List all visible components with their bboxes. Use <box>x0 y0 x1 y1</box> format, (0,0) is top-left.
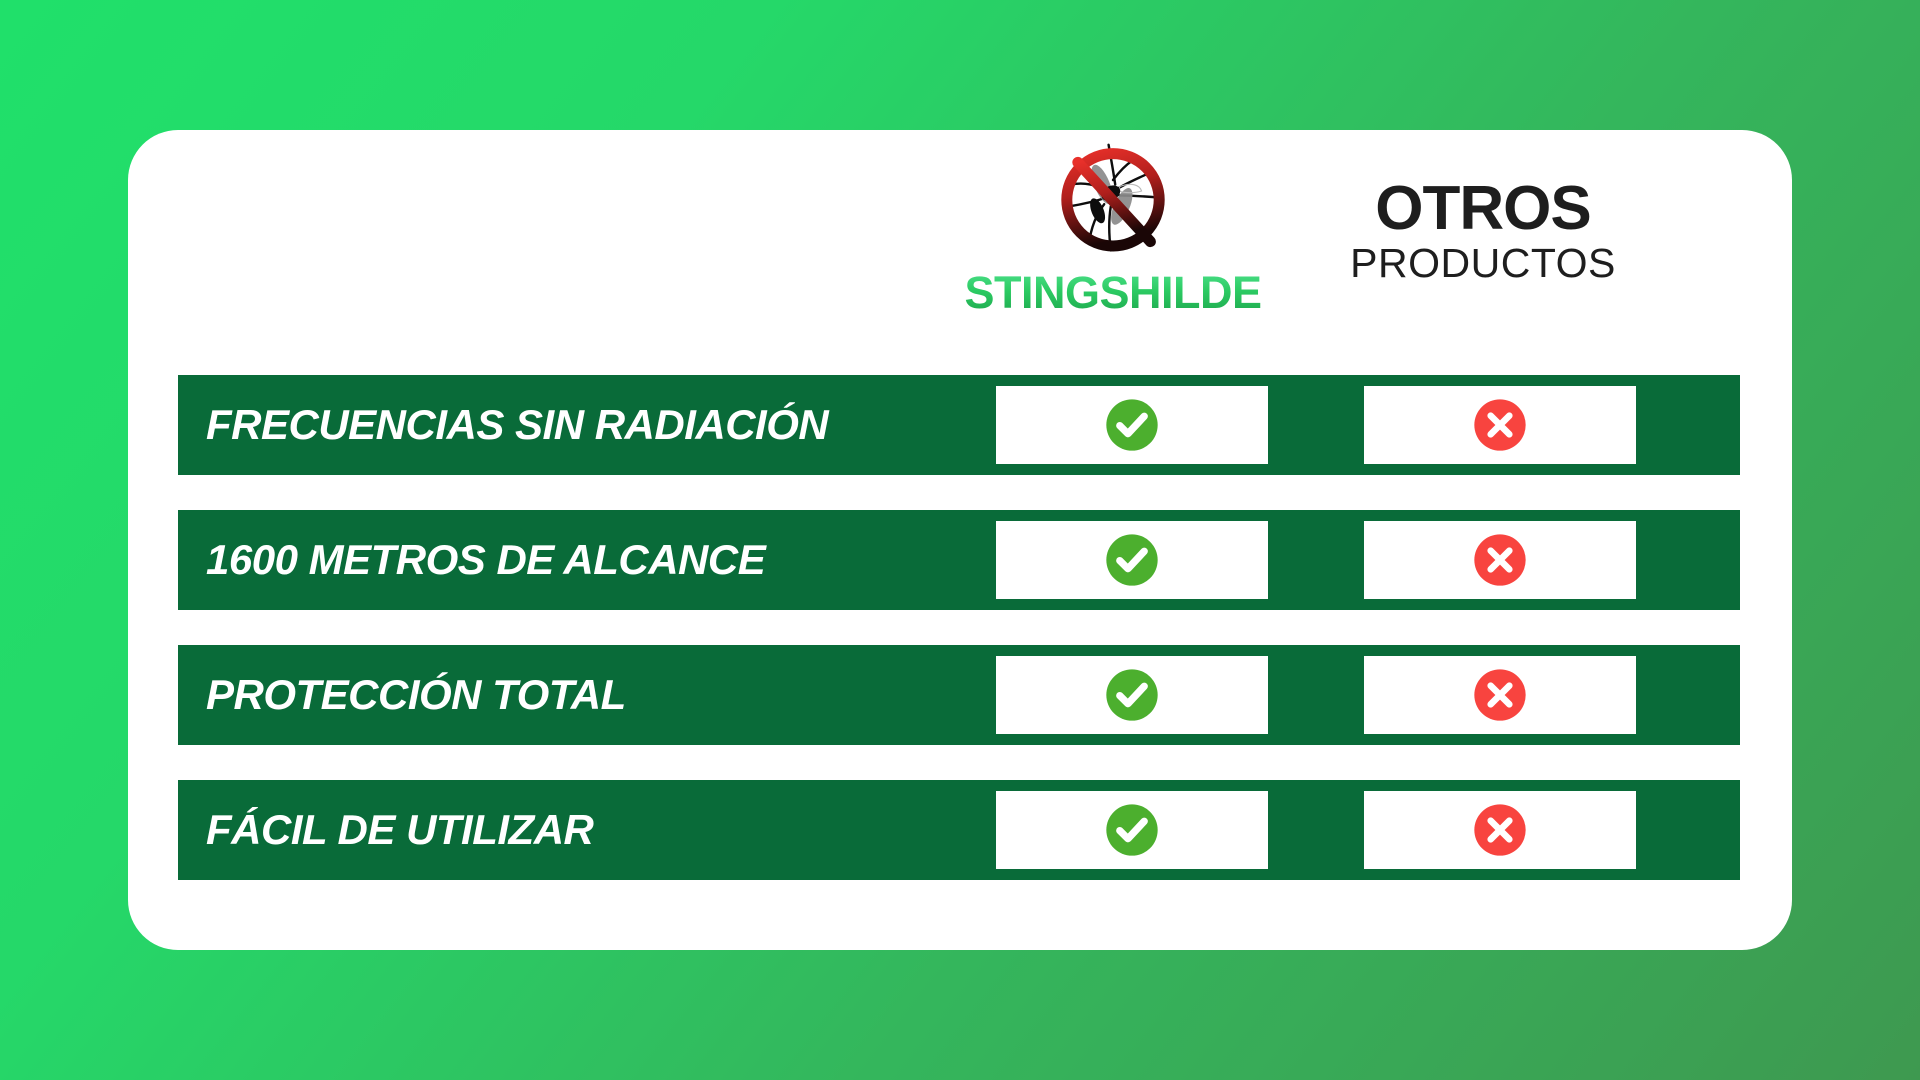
comparison-card: STINGSHILDE OTROS PRODUCTOS FRECUENCIAS … <box>128 130 1792 950</box>
competitor-cell <box>1364 521 1636 599</box>
feature-label: FÁCIL DE UTILIZAR <box>206 780 593 880</box>
stingshilde-cell <box>996 386 1268 464</box>
cross-icon <box>1472 532 1528 588</box>
check-icon <box>1104 802 1160 858</box>
check-icon <box>1104 667 1160 723</box>
stingshilde-cell <box>996 791 1268 869</box>
mosquito-prohibited-icon <box>1047 136 1179 268</box>
feature-label: 1600 METROS DE ALCANCE <box>206 510 765 610</box>
check-icon <box>1104 532 1160 588</box>
table-row: PROTECCIÓN TOTAL <box>178 645 1740 745</box>
table-row: FÁCIL DE UTILIZAR <box>178 780 1740 880</box>
comparison-rows: FRECUENCIAS SIN RADIACIÓN 1600 METROS <box>178 375 1740 880</box>
feature-label: PROTECCIÓN TOTAL <box>206 645 626 745</box>
comparison-graphic: STINGSHILDE OTROS PRODUCTOS FRECUENCIAS … <box>0 0 1920 1080</box>
brand-column-header: STINGSHILDE <box>918 136 1308 315</box>
cross-icon <box>1472 802 1528 858</box>
comparison-header: STINGSHILDE OTROS PRODUCTOS <box>128 130 1792 375</box>
table-row: FRECUENCIAS SIN RADIACIÓN <box>178 375 1740 475</box>
cross-icon <box>1472 397 1528 453</box>
stingshilde-cell <box>996 656 1268 734</box>
competitor-cell <box>1364 386 1636 464</box>
competitor-cell <box>1364 791 1636 869</box>
cross-icon <box>1472 667 1528 723</box>
competitor-subtitle: PRODUCTOS <box>1350 242 1616 285</box>
stingshilde-cell <box>996 521 1268 599</box>
competitor-column-header: OTROS PRODUCTOS <box>1288 178 1678 285</box>
brand-name: STINGSHILDE <box>964 270 1261 315</box>
competitor-title: OTROS <box>1375 178 1590 240</box>
feature-label: FRECUENCIAS SIN RADIACIÓN <box>206 375 828 475</box>
check-icon <box>1104 397 1160 453</box>
table-row: 1600 METROS DE ALCANCE <box>178 510 1740 610</box>
competitor-cell <box>1364 656 1636 734</box>
